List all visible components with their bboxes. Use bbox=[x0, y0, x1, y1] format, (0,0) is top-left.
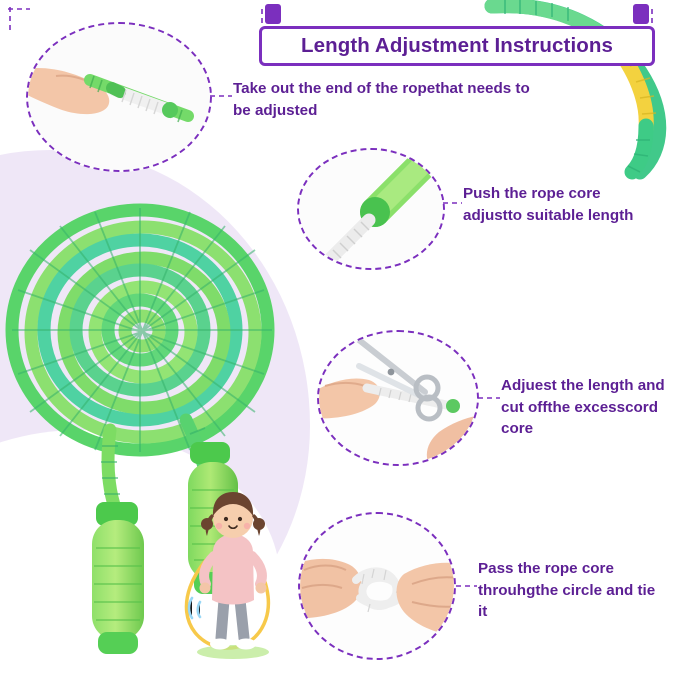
step-3-photo-bubble bbox=[317, 330, 479, 466]
step-1-photo bbox=[28, 24, 210, 170]
banner-tab-right bbox=[633, 4, 649, 24]
step-2-photo-bubble bbox=[297, 148, 445, 270]
step-4-photo-bubble bbox=[298, 512, 456, 660]
step-4-caption: Pass the rope core throuhgthe circle and… bbox=[478, 558, 668, 623]
page-title: Length Adjustment Instructions bbox=[301, 34, 613, 58]
step-4-photo-graphic bbox=[300, 514, 454, 658]
step-1-photo-bubble bbox=[26, 22, 212, 172]
step-2-photo-graphic bbox=[299, 150, 443, 268]
title-banner: Length Adjustment Instructions bbox=[251, 4, 663, 66]
banner-tab-left bbox=[265, 4, 281, 24]
step-1-photo-graphic bbox=[28, 24, 210, 170]
step-4-photo bbox=[300, 514, 454, 658]
step-1-caption: Take out the end of the ropethat needs t… bbox=[233, 78, 551, 121]
step-3-caption: Adjuest the length and cut offthe excess… bbox=[501, 375, 679, 440]
step-3-photo bbox=[319, 332, 477, 464]
step-3-photo-graphic bbox=[319, 332, 477, 464]
banner-box: Length Adjustment Instructions bbox=[259, 26, 655, 66]
instruction-infographic: Length Adjustment Instructions bbox=[0, 0, 679, 679]
step-2-photo bbox=[299, 150, 443, 268]
step-2-caption: Push the rope core adjustto suitable len… bbox=[463, 183, 659, 226]
